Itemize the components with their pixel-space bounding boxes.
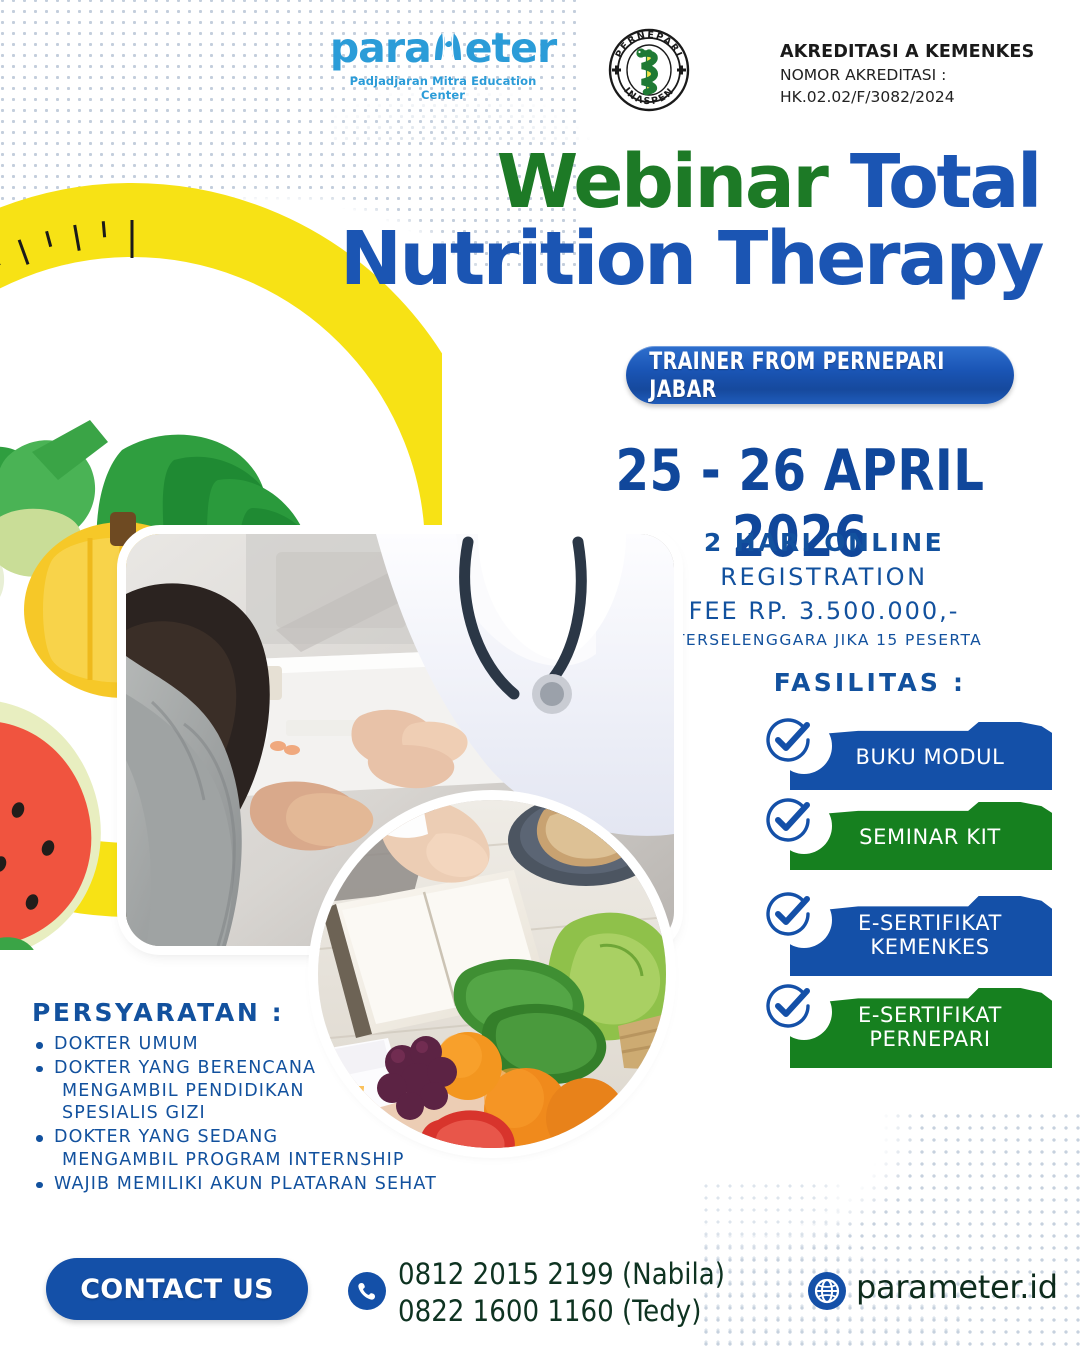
check-circle-icon — [762, 714, 814, 766]
pernepari-inaspen-seal-logo: PERNEPARI INASPEN — [600, 24, 718, 112]
accreditation-block: AKREDITASI A KEMENKES NOMOR AKREDITASI :… — [780, 42, 1070, 106]
requirements-list: DOKTER UMUM DOKTER YANG BERENCANA MENGAM… — [32, 1033, 502, 1195]
trainer-badge: TRAINER FROM PERNEPARI JABAR — [626, 346, 1014, 404]
check-circle-icon — [762, 980, 814, 1032]
title-line-2: Nutrition Therapy — [340, 223, 1040, 296]
parameter-logo: para eter Padjadjaran Mitra Education Ce… — [338, 28, 548, 102]
facility-label-line1: E-SERTIFIKAT — [858, 1003, 1002, 1027]
facility-label: SEMINAR KIT — [859, 826, 1001, 850]
check-circle-icon — [762, 888, 814, 940]
facilities-list: BUKU MODUL SEMINAR KIT — [762, 722, 1062, 1080]
contact-us-label: CONTACT US — [80, 1274, 274, 1305]
phone-number-1: 0812 2015 2199 (Nabila) — [398, 1256, 798, 1293]
requirement-line: DOKTER YANG SEDANG — [54, 1127, 278, 1147]
requirement-line: MENGAMBIL PENDIDIKAN — [54, 1080, 502, 1103]
facility-label: E-SERTIFIKAT PERNEPARI — [858, 1004, 1002, 1052]
contact-us-button[interactable]: CONTACT US — [46, 1258, 308, 1320]
facility-label: BUKU MODUL — [856, 746, 1005, 770]
requirement-line: SPESIALIS GIZI — [54, 1102, 502, 1125]
leaf-m-icon — [431, 30, 465, 64]
facility-item: E-SERTIFIKAT KEMENKES — [762, 896, 1062, 976]
check-circle-icon — [762, 794, 814, 846]
requirement-item: DOKTER YANG BERENCANA MENGAMBIL PENDIDIK… — [54, 1057, 502, 1125]
poster-header: para eter Padjadjaran Mitra Education Ce… — [0, 16, 1080, 112]
parameter-tagline: Padjadjaran Mitra Education Center — [338, 74, 548, 102]
title-word-total: Total — [850, 139, 1040, 225]
facility-item: E-SERTIFIKAT PERNEPARI — [762, 988, 1062, 1068]
poster-root: 4 3 2 1 22 23 — [0, 0, 1080, 1350]
parameter-wordmark-part2: eter — [465, 28, 556, 69]
requirement-line: DOKTER UMUM — [54, 1034, 199, 1054]
page-title: Webinar Total Nutrition Therapy — [340, 146, 1040, 295]
requirement-line: DOKTER YANG BERENCANA — [54, 1058, 316, 1078]
contact-phone-numbers: 0812 2015 2199 (Nabila) 0822 1600 1160 (… — [398, 1256, 798, 1330]
requirements-section: PERSYARATAN : DOKTER UMUM DOKTER YANG BE… — [32, 998, 502, 1196]
facility-label-line2: KEMENKES — [870, 935, 989, 959]
parameter-wordmark-part1: para — [330, 28, 431, 69]
accreditation-label: NOMOR AKREDITASI : — [780, 66, 1070, 84]
requirement-item: DOKTER YANG SEDANG MENGAMBIL PROGRAM INT… — [54, 1126, 502, 1172]
requirement-item: DOKTER UMUM — [54, 1033, 502, 1056]
trainer-badge-label: TRAINER FROM PERNEPARI JABAR — [649, 347, 990, 403]
facility-label: E-SERTIFIKAT KEMENKES — [858, 912, 1002, 960]
requirement-line: MENGAMBIL PROGRAM INTERNSHIP — [54, 1149, 502, 1172]
website-url: parameter.id — [856, 1268, 1058, 1306]
phone-number-2: 0822 1600 1160 (Tedy) — [398, 1293, 798, 1330]
facility-item: SEMINAR KIT — [762, 802, 1062, 870]
globe-icon — [808, 1272, 846, 1310]
facility-item: BUKU MODUL — [762, 722, 1062, 790]
requirement-item: WAJIB MEMILIKI AKUN PLATARAN SEHAT — [54, 1173, 502, 1196]
facilities-heading: FASILITAS : — [700, 668, 1040, 697]
requirement-line: WAJIB MEMILIKI AKUN PLATARAN SEHAT — [54, 1174, 437, 1194]
requirements-heading: PERSYARATAN : — [32, 998, 502, 1027]
accreditation-title: AKREDITASI A KEMENKES — [780, 42, 1070, 62]
title-line-1: Webinar Total — [340, 146, 1040, 219]
facility-label-line2: PERNEPARI — [869, 1027, 990, 1051]
facility-label-line1: E-SERTIFIKAT — [858, 911, 1002, 935]
accreditation-number: HK.02.02/F/3082/2024 — [780, 88, 1070, 106]
parameter-wordmark: para eter — [338, 28, 548, 69]
phone-icon — [348, 1272, 386, 1310]
title-word-webinar: Webinar — [497, 139, 827, 225]
